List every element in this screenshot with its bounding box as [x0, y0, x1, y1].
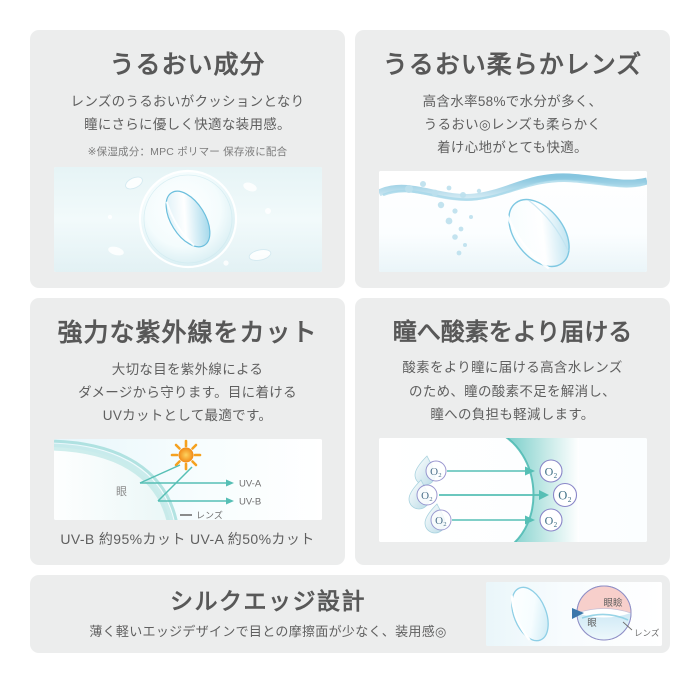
o2-label: O₂: [544, 465, 557, 479]
card-title: うるおい柔らかレンズ: [383, 52, 643, 80]
product-feature-page: うるおい成分 レンズのうるおいがクッションとなり 瞳にさらに優しく快適な装用感。…: [0, 0, 700, 700]
sun-icon: [172, 441, 200, 469]
card-body-line: のため、瞳の酸素不足を解消し、: [402, 380, 622, 403]
uv-a-label: UV-A: [239, 479, 262, 490]
card-body: 大切な目を紫外線による ダメージから守ります。目に着ける UVカットとして最適で…: [78, 358, 297, 428]
feature-card-grid: うるおい成分 レンズのうるおいがクッションとなり 瞳にさらに優しく快適な装用感。…: [30, 30, 670, 565]
lens-with-water-wave-image: [379, 171, 647, 272]
banner-text-block: シルクエッジ設計 薄く軽いエッジデザインで目との摩擦面が少なく、装用感◎: [30, 588, 486, 639]
uv-b-label: UV-B: [239, 497, 261, 508]
card-title: 瞳へ酸素をより届ける: [393, 320, 633, 346]
card-body-line: 大切な目を紫外線による: [78, 358, 297, 381]
uv-diagram-lens-label: レンズ: [196, 510, 223, 520]
card-body-line: ダメージから守ります。目に着ける: [78, 381, 297, 404]
silk-edge-lens-label: レンズ: [634, 628, 660, 638]
card-body: 酸素をより瞳に届ける高含水レンズ のため、瞳の酸素不足を解消し、 瞳への負担も軽…: [402, 356, 622, 426]
banner-subtitle: 薄く軽いエッジデザインで目との摩擦面が少なく、装用感◎: [50, 621, 486, 640]
feature-banner-silk-edge: シルクエッジ設計 薄く軽いエッジデザインで目との摩擦面が少なく、装用感◎: [30, 575, 670, 653]
feature-card-moisture-ingredient: うるおい成分 レンズのうるおいがクッションとなり 瞳にさらに優しく快適な装用感。…: [30, 30, 345, 288]
uv-cut-diagram: 眼: [54, 439, 322, 520]
uv-diagram-eye-label: 眼: [116, 485, 127, 498]
card-title: うるおい成分: [109, 52, 265, 80]
card-body: レンズのうるおいがクッションとなり 瞳にさらに優しく快適な装用感。: [71, 90, 305, 136]
card-body: 高含水率58%で水分が多く、 うるおい◎レンズも柔らかく 着け心地がとても快適。: [423, 90, 603, 160]
oxygen-transmission-diagram: O₂ O₂ O₂ O₂: [379, 438, 647, 542]
banner-title: シルクエッジ設計: [50, 588, 486, 614]
o2-label: O₂: [421, 490, 433, 502]
o2-label: O₂: [430, 466, 442, 478]
silk-edge-eye-label: 眼: [587, 618, 597, 629]
feature-card-soft-moist-lens: うるおい柔らかレンズ 高含水率58%で水分が多く、 うるおい◎レンズも柔らかく …: [355, 30, 670, 288]
o2-label: O₂: [544, 514, 557, 528]
card-body-line: うるおい◎レンズも柔らかく: [423, 113, 603, 136]
card-body-line: 瞳への負担も軽減します。: [402, 403, 622, 426]
card-body-line: 着け心地がとても快適。: [423, 136, 603, 159]
lens-in-water-drop-image: [54, 167, 322, 272]
o2-label: O₂: [435, 515, 447, 527]
card-body-line: UVカットとして最適です。: [78, 404, 297, 427]
o2-label: O₂: [558, 489, 571, 503]
card-note: ※保湿成分：MPC ポリマー 保存液に配合: [88, 144, 288, 159]
card-body-line: 瞳にさらに優しく快適な装用感。: [71, 113, 305, 136]
silk-edge-diagram: 眼瞼 眼 レンズ: [486, 582, 662, 646]
card-body-line: レンズのうるおいがクッションとなり: [71, 90, 305, 113]
feature-card-oxygen-delivery: 瞳へ酸素をより届ける 酸素をより瞳に届ける高含水レンズ のため、瞳の酸素不足を解…: [355, 298, 670, 565]
uv-cut-caption: UV-B 約95%カット UV-A 約50%カット: [60, 529, 314, 549]
card-body-line: 高含水率58%で水分が多く、: [423, 90, 603, 113]
card-body-line: 酸素をより瞳に届ける高含水レンズ: [402, 356, 622, 379]
silk-edge-eyelid-label: 眼瞼: [603, 597, 623, 609]
feature-card-uv-cut: 強力な紫外線をカット 大切な目を紫外線による ダメージから守ります。目に着ける …: [30, 298, 345, 565]
card-title: 強力な紫外線をカット: [57, 320, 317, 348]
